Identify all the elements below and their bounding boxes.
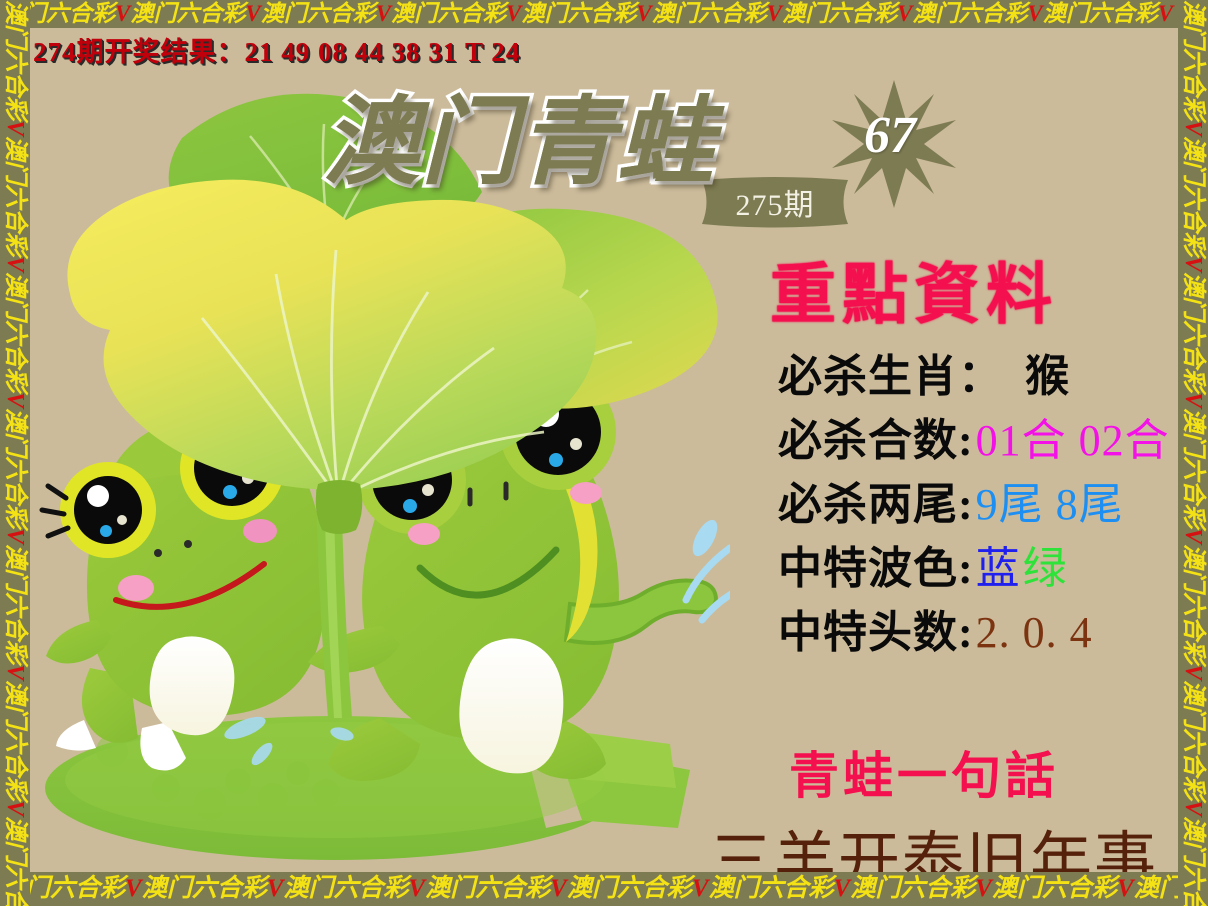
poster-canvas: 274期开奖结果：21 49 08 44 38 31 T 24 67 澳门青蛙 …	[30, 28, 1178, 872]
info-row-zodiac: 必杀生肖： 猴	[778, 340, 1178, 404]
info-label: 必杀生肖：	[778, 340, 1003, 404]
border-bottom: 澳门六合彩V澳门六合彩V澳门六合彩V澳门六合彩V澳门六合彩V澳门六合彩V澳门六合…	[0, 872, 1208, 906]
info-label: 必杀两尾:	[778, 468, 974, 532]
border-marquee-right: 澳门六合彩V澳门六合彩V澳门六合彩V澳门六合彩V澳门六合彩V澳门六合彩V澳门六合…	[1178, 0, 1208, 906]
info-value-green: 绿	[1023, 532, 1068, 596]
page-title: 澳门青蛙	[323, 64, 715, 203]
info-label: 必杀合数:	[778, 404, 974, 468]
info-value-blue: 蓝	[976, 532, 1021, 596]
issue-number: 275期	[692, 176, 858, 228]
info-value: 2. 0. 4	[976, 607, 1093, 658]
border-marquee-top: 澳门六合彩V澳门六合彩V澳门六合彩V澳门六合彩V澳门六合彩V澳门六合彩V澳门六合…	[0, 0, 1208, 28]
info-label: 中特头数:	[778, 596, 974, 660]
info-row-head-count: 中特头数: 2. 0. 4	[778, 596, 1178, 660]
poster-root: 274期开奖结果：21 49 08 44 38 31 T 24 67 澳门青蛙 …	[0, 0, 1208, 906]
splash-drop	[688, 516, 723, 560]
info-value: 9尾 8尾	[976, 468, 1124, 532]
slogan-heading: 青蛙一句話	[789, 736, 1059, 808]
slogan-body: 三羊开泰旧年事	[710, 810, 1158, 872]
info-list: 必杀生肖： 猴 必杀合数: 01合 02合 必杀两尾: 9尾 8尾 中特波色: …	[778, 340, 1178, 660]
info-row-wave-color: 中特波色: 蓝 绿	[778, 532, 1178, 596]
border-top: 澳门六合彩V澳门六合彩V澳门六合彩V澳门六合彩V澳门六合彩V澳门六合彩V澳门六合…	[0, 0, 1208, 28]
draw-result-text: 274期开奖结果：21 49 08 44 38 31 T 24	[33, 30, 520, 69]
border-marquee-bottom: 澳门六合彩V澳门六合彩V澳门六合彩V澳门六合彩V澳门六合彩V澳门六合彩V澳门六合…	[0, 872, 1208, 906]
info-row-sum: 必杀合数: 01合 02合	[778, 404, 1178, 468]
star-number: 67	[864, 106, 916, 165]
border-marquee-left: 澳门六合彩V澳门六合彩V澳门六合彩V澳门六合彩V澳门六合彩V澳门六合彩V澳门六合…	[0, 0, 30, 906]
border-left: 澳门六合彩V澳门六合彩V澳门六合彩V澳门六合彩V澳门六合彩V澳门六合彩V澳门六合…	[0, 0, 30, 906]
info-row-tails: 必杀两尾: 9尾 8尾	[778, 468, 1178, 532]
info-value: 猴	[1025, 340, 1070, 404]
section-headline: 重點資料	[770, 241, 1058, 337]
info-value: 01合 02合	[976, 404, 1170, 468]
border-right: 澳门六合彩V澳门六合彩V澳门六合彩V澳门六合彩V澳门六合彩V澳门六合彩V澳门六合…	[1178, 0, 1208, 906]
info-label: 中特波色:	[778, 532, 974, 596]
